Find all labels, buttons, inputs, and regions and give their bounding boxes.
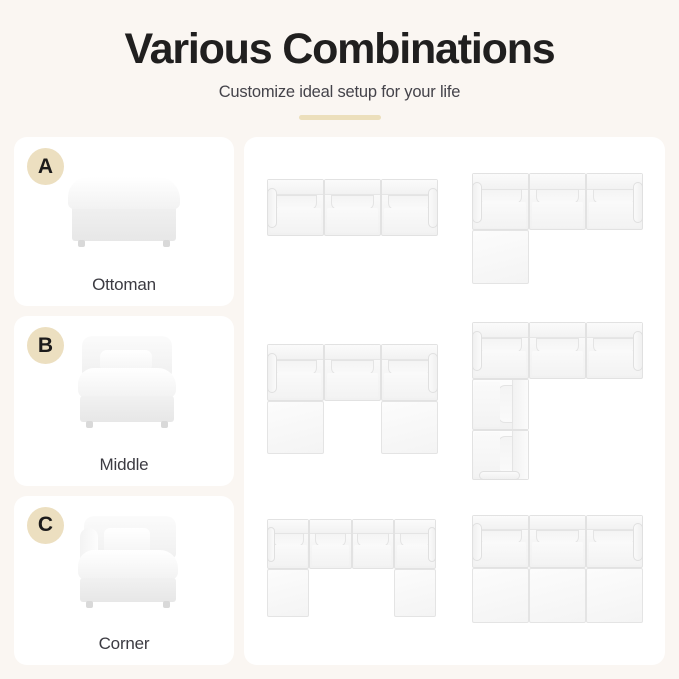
- infographic-page: Various Combinations Customize ideal set…: [0, 0, 679, 679]
- piece-ottoman: [381, 401, 438, 454]
- piece-corner-left: [267, 179, 324, 236]
- combination-row-3: [250, 486, 659, 657]
- piece-middle: [352, 519, 394, 569]
- module-label-corner: Corner: [99, 634, 150, 654]
- module-label-ottoman: Ottoman: [92, 275, 156, 295]
- piece-middle: [309, 519, 351, 569]
- piece-corner-right: [394, 519, 436, 569]
- piece-ottoman: [394, 569, 436, 617]
- module-card-ottoman[interactable]: A Ottoman: [14, 137, 234, 306]
- combinations-panel: [244, 137, 665, 665]
- combination-row-1: [250, 145, 659, 316]
- piece-middle: [529, 322, 586, 379]
- combination-row-2: [250, 316, 659, 487]
- header: Various Combinations Customize ideal set…: [0, 0, 679, 120]
- piece-middle: [324, 179, 381, 236]
- piece-corner-right: [586, 515, 643, 568]
- corner-product-image: [54, 514, 194, 614]
- page-title: Various Combinations: [0, 27, 679, 72]
- combination-large-l-sectional[interactable]: [472, 322, 642, 480]
- piece-corner-right: [586, 173, 643, 230]
- piece-corner-left: [472, 322, 529, 379]
- module-label-middle: Middle: [100, 455, 149, 475]
- module-card-middle[interactable]: B Middle: [14, 316, 234, 485]
- page-subtitle: Customize ideal setup for your life: [0, 83, 679, 102]
- combination-u-shape-three-seat[interactable]: [267, 344, 437, 458]
- combination-l-shape-with-ottoman[interactable]: [472, 173, 642, 287]
- piece-corner-left: [472, 515, 529, 568]
- piece-corner-right: [381, 344, 438, 401]
- accent-underline: [299, 115, 381, 120]
- middle-product-image: [54, 334, 194, 434]
- module-card-list: A Ottoman B: [14, 137, 234, 665]
- piece-corner-right: [586, 322, 643, 379]
- combination-u-shape-four-seat[interactable]: [267, 519, 437, 624]
- piece-side-corner: [472, 430, 529, 481]
- piece-side-middle: [472, 379, 529, 430]
- piece-ottoman: [472, 230, 529, 283]
- piece-corner-left: [267, 519, 309, 569]
- piece-middle: [529, 173, 586, 230]
- combination-three-seat-sofa[interactable]: [267, 179, 437, 282]
- piece-middle: [324, 344, 381, 401]
- piece-ottoman: [267, 401, 324, 454]
- piece-ottoman: [529, 568, 586, 623]
- piece-ottoman: [586, 568, 643, 623]
- module-card-corner[interactable]: C Corner: [14, 496, 234, 665]
- combination-daybed-platform[interactable]: [472, 515, 642, 629]
- content-area: A Ottoman B: [0, 137, 679, 665]
- piece-corner-left: [472, 173, 529, 230]
- piece-ottoman: [472, 568, 529, 623]
- piece-middle: [529, 515, 586, 568]
- piece-corner-right: [381, 179, 438, 236]
- piece-corner-left: [267, 344, 324, 401]
- piece-ottoman: [267, 569, 309, 617]
- ottoman-product-image: [54, 155, 194, 255]
